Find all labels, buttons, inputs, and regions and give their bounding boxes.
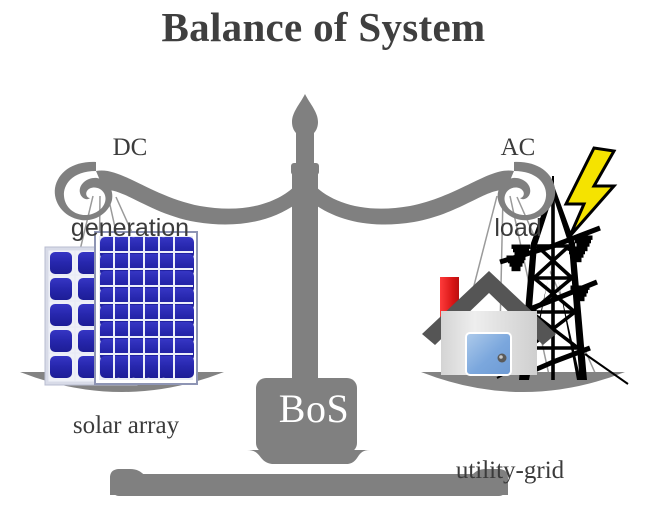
right-pan-caption-line1: utility-grid	[395, 458, 625, 485]
diagram-canvas: Balance of System DC generation AC load …	[0, 0, 647, 512]
left-pan-heading-line2: generation	[30, 215, 230, 242]
right-pan-heading-line1: AC	[428, 135, 608, 162]
left-pan-heading: DC generation	[30, 82, 230, 294]
left-pan-heading-line1: DC	[30, 135, 230, 162]
page-title: Balance of System	[0, 6, 647, 49]
door	[466, 333, 511, 375]
right-pan-heading-line2: load	[428, 215, 608, 242]
left-pan-caption: solar array	[18, 413, 234, 440]
right-pan-caption: utility-grid household	[395, 405, 625, 512]
right-pan-heading: AC load	[428, 82, 608, 294]
fulcrum-label: BoS	[249, 385, 379, 432]
scale-column	[291, 94, 319, 382]
